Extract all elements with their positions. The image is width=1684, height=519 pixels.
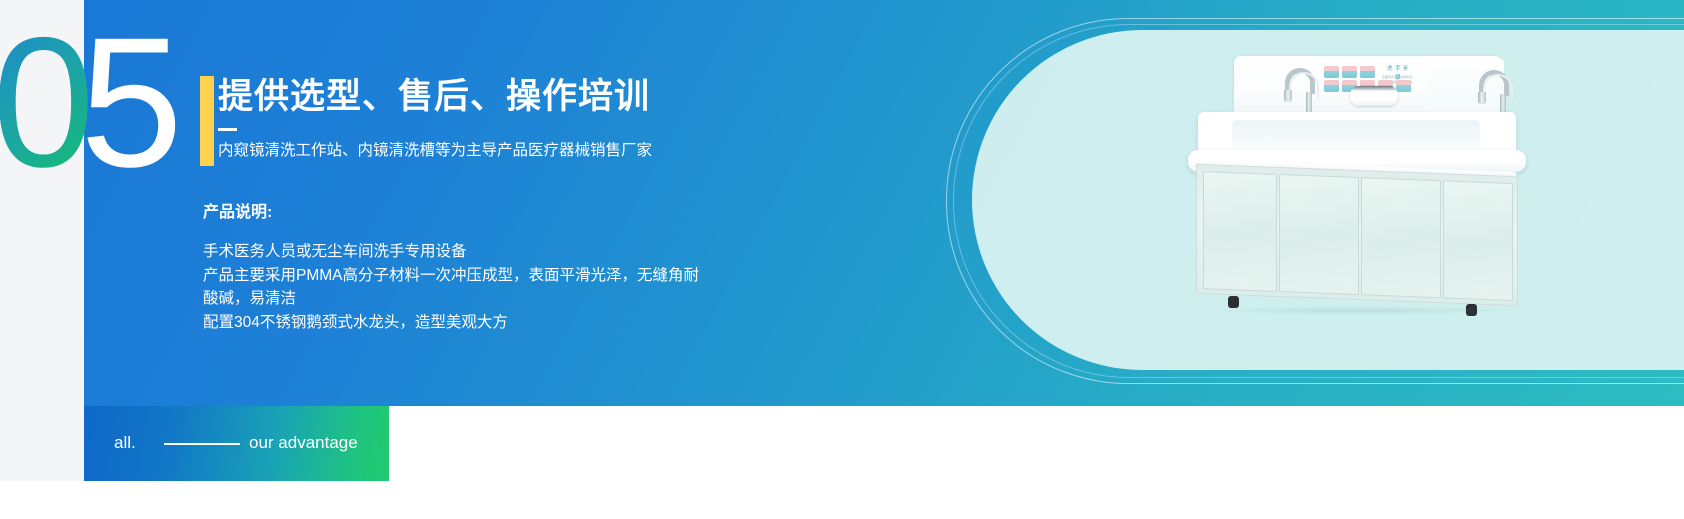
accent-bar — [200, 76, 214, 166]
cabinet-door — [1361, 177, 1441, 298]
banner-title: 提供选型、售后、操作培训 — [218, 70, 650, 124]
footer-white-bottom — [0, 481, 1684, 519]
description-line: 配置304不锈钢鹅颈式水龙头，造型美观大方 — [203, 311, 699, 335]
soap-dispenser — [1350, 86, 1398, 106]
title-divider — [218, 128, 237, 131]
description-line: 产品主要采用PMMA高分子材料一次冲压成型，表面平滑光泽，无缝角耐 — [203, 264, 699, 288]
cabinet-door — [1443, 180, 1513, 301]
svg-text:5: 5 — [80, 14, 179, 194]
section-number: 0 5 — [0, 14, 182, 194]
product-shadow — [1202, 306, 1512, 315]
banner-background: 洗 手 步 骤 正确洗手七步法说明 防止交叉感染保护您和他人 — [84, 0, 1684, 406]
svg-text:0: 0 — [0, 14, 91, 194]
footer-left-label: all. — [114, 433, 136, 453]
banner-subtitle: 内窥镜清洗工作站、内镜清洗槽等为主导产品医疗器械销售厂家 — [218, 138, 652, 164]
footer-divider-line — [164, 443, 240, 445]
cabinet-door — [1279, 174, 1359, 295]
cabinet-door — [1203, 171, 1277, 292]
description-block: 产品说明: 手术医务人员或无尘车间洗手专用设备 产品主要采用PMMA高分子材料一… — [203, 198, 699, 334]
product-photo: 洗 手 步 骤 正确洗手七步法说明 防止交叉感染保护您和他人 — [1182, 46, 1532, 362]
description-line: 手术医务人员或无尘车间洗手专用设备 — [203, 240, 699, 264]
footer-right-label: our advantage — [249, 433, 358, 453]
cabinet-body — [1196, 164, 1518, 306]
footer-bar: all. our advantage — [84, 406, 389, 481]
description-line: 酸碱，易清洁 — [203, 287, 699, 311]
banner-stage: 洗 手 步 骤 正确洗手七步法说明 防止交叉感染保护您和他人 — [0, 0, 1684, 519]
description-label: 产品说明: — [203, 198, 699, 228]
poster-heading: 洗 手 步 骤 — [1383, 65, 1413, 74]
